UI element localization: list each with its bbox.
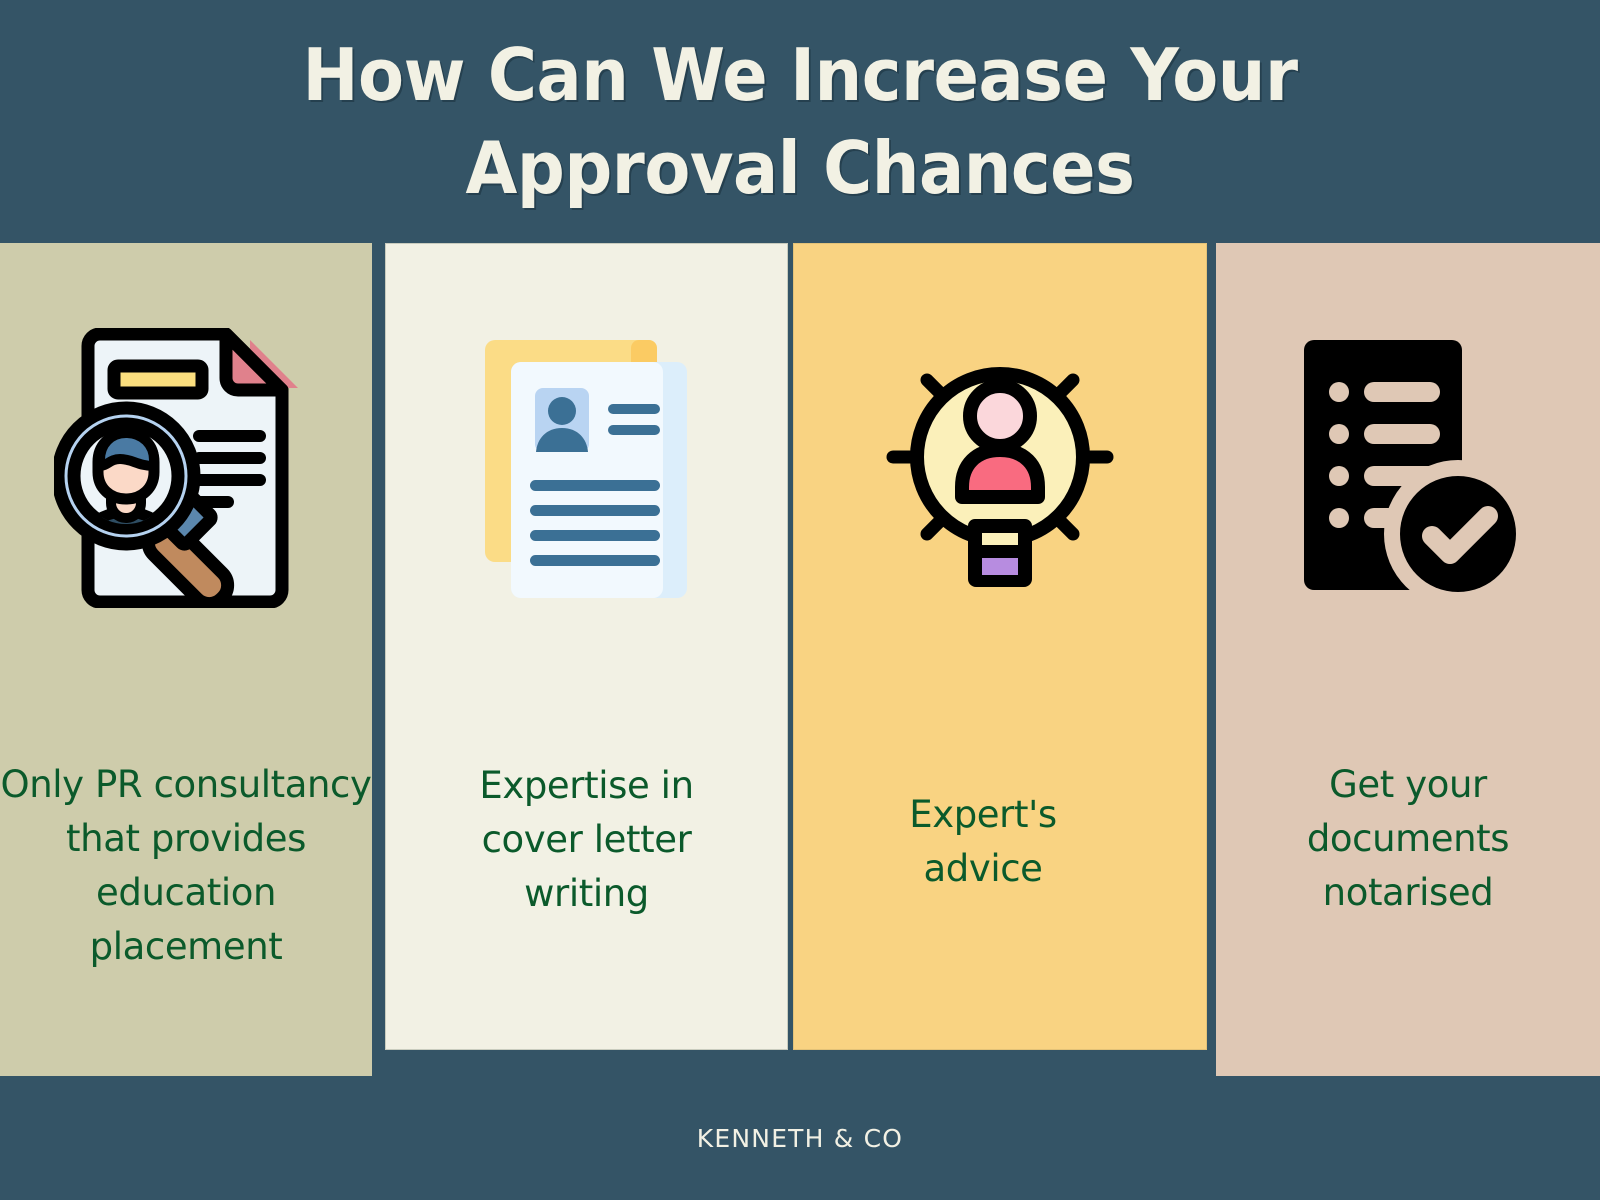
header-band: How Can We Increase Your Approval Chance… (0, 0, 1600, 243)
column-card-4[interactable]: Get your documents notarised (1216, 243, 1600, 1076)
cover-letter-documents-icon (479, 334, 695, 604)
column-4-icon-wrap (1216, 243, 1600, 643)
brand-name: KENNETH & CO (697, 1124, 903, 1153)
column-3-caption: Expert's advice (818, 788, 1148, 896)
infographic-poster: How Can We Increase Your Approval Chance… (0, 0, 1600, 1200)
column-1-caption: Only PR consultancy that provides educat… (0, 758, 372, 974)
checklist-verified-document-icon (1298, 334, 1518, 602)
column-4-caption: Get your documents notarised (1243, 758, 1573, 920)
column-card-2[interactable]: Expertise in cover letter writing (385, 243, 788, 1050)
document-person-search-icon (54, 328, 318, 608)
column-2-icon-wrap (386, 244, 787, 644)
column-3-icon-wrap (794, 244, 1206, 644)
column-card-1[interactable]: Only PR consultancy that provides educat… (0, 243, 372, 1076)
page-title: How Can We Increase Your Approval Chance… (223, 29, 1376, 213)
columns-band: Only PR consultancy that provides educat… (0, 243, 1600, 1076)
column-2-caption: Expertise in cover letter writing (422, 759, 752, 921)
lightbulb-person-idea-icon (865, 344, 1135, 594)
footer-band: KENNETH & CO (0, 1076, 1600, 1200)
column-card-3[interactable]: Expert's advice (793, 243, 1207, 1050)
column-1-icon-wrap (0, 243, 372, 643)
